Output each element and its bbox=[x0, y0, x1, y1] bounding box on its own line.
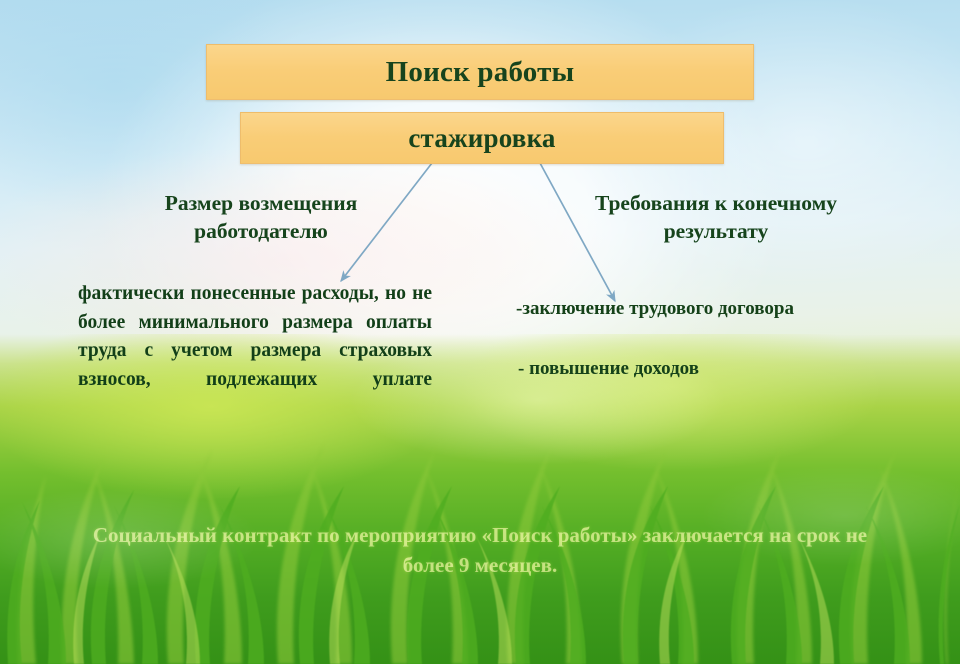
slide-canvas: Поиск работы стажировка Размер возмещени… bbox=[0, 0, 960, 664]
title-box-label: Поиск работы bbox=[386, 56, 575, 89]
paragraph-left: фактически понесенные расходы, но не бол… bbox=[78, 280, 432, 423]
heading-right: Требования к конечному результату bbox=[546, 190, 886, 245]
title-box: Поиск работы bbox=[206, 44, 754, 100]
subtitle-box-label: стажировка bbox=[408, 123, 555, 154]
footer-note: Социальный контракт по мероприятию «Поис… bbox=[80, 521, 880, 581]
bullet-item-contract: -заключение трудового договора bbox=[516, 298, 794, 320]
subtitle-box: стажировка bbox=[240, 112, 724, 164]
heading-left: Размер возмещения работодателю bbox=[106, 190, 416, 245]
bullet-item-income: - повышение доходов bbox=[518, 358, 699, 380]
